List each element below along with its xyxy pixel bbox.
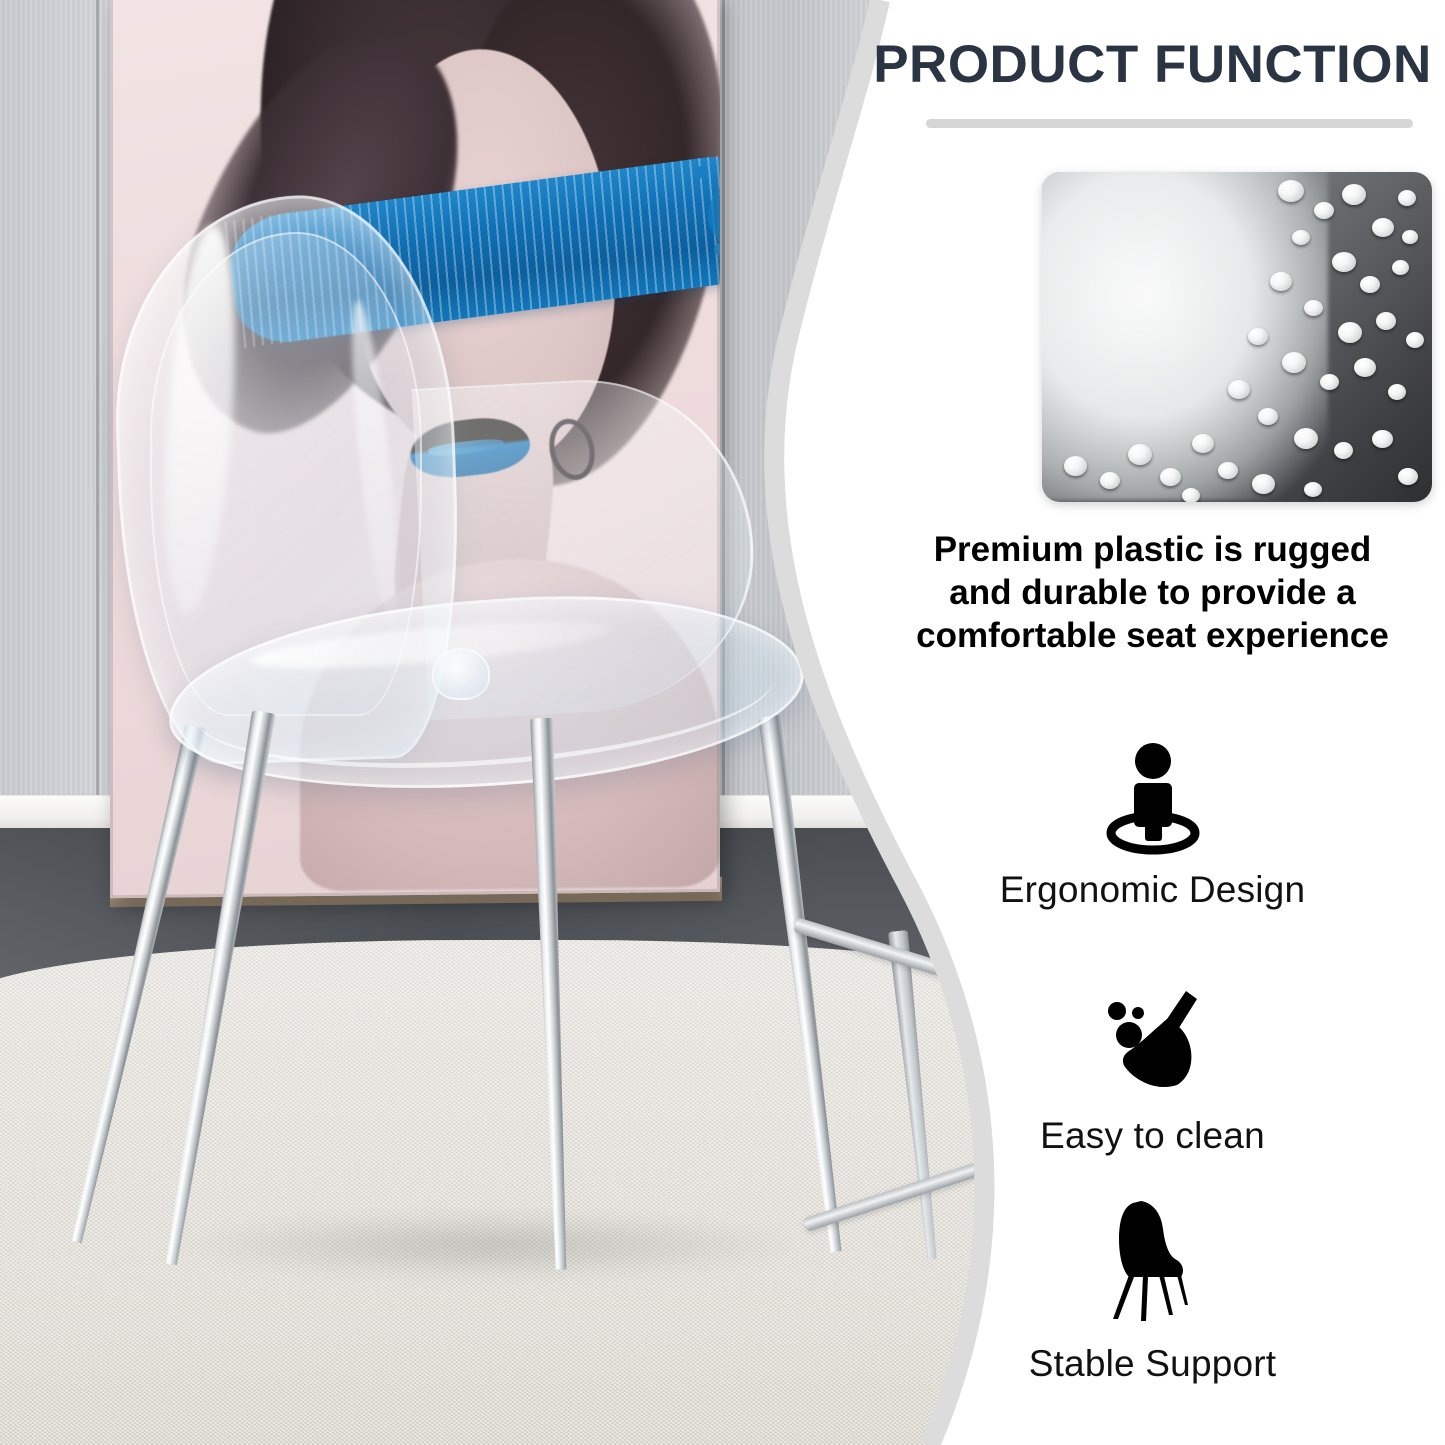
- right-info-panel: PRODUCT FUNCTION: [860, 0, 1445, 1445]
- feature-label: Easy to clean: [860, 1115, 1445, 1157]
- plastic-pellets-photo: [1042, 172, 1432, 502]
- chair-seat-boss: [432, 648, 490, 700]
- feature-label: Ergonomic Design: [860, 869, 1445, 911]
- chair-leg-back-right: [758, 715, 848, 1254]
- feature-ergonomic-design: Ergonomic Design: [860, 735, 1445, 911]
- feature-label: Stable Support: [860, 1343, 1445, 1385]
- title-divider-rule: [926, 119, 1413, 128]
- person-in-circle-icon: [1093, 735, 1213, 855]
- feature-easy-to-clean: Easy to clean: [860, 985, 1445, 1157]
- caption-line-2: and durable to provide a: [880, 571, 1425, 614]
- product-photo: [0, 0, 1010, 1445]
- feature-stable-support: Stable Support: [860, 1195, 1445, 1385]
- caption-line-3: comfortable seat experience: [880, 614, 1425, 657]
- chair-leg-front-right: [530, 718, 572, 1270]
- caption-line-1: Premium plastic is rugged: [880, 528, 1425, 571]
- broom-sweeping-icon: [1093, 985, 1213, 1093]
- material-caption: Premium plastic is rugged and durable to…: [880, 528, 1425, 657]
- infographic-canvas: PRODUCT FUNCTION: [0, 0, 1445, 1445]
- chair-silhouette-icon: [1093, 1195, 1213, 1323]
- acrylic-chair: [0, 0, 1010, 1445]
- chair-shadow: [170, 1210, 810, 1280]
- page-title: PRODUCT FUNCTION: [860, 34, 1445, 95]
- pellet-cluster: [1042, 172, 1328, 500]
